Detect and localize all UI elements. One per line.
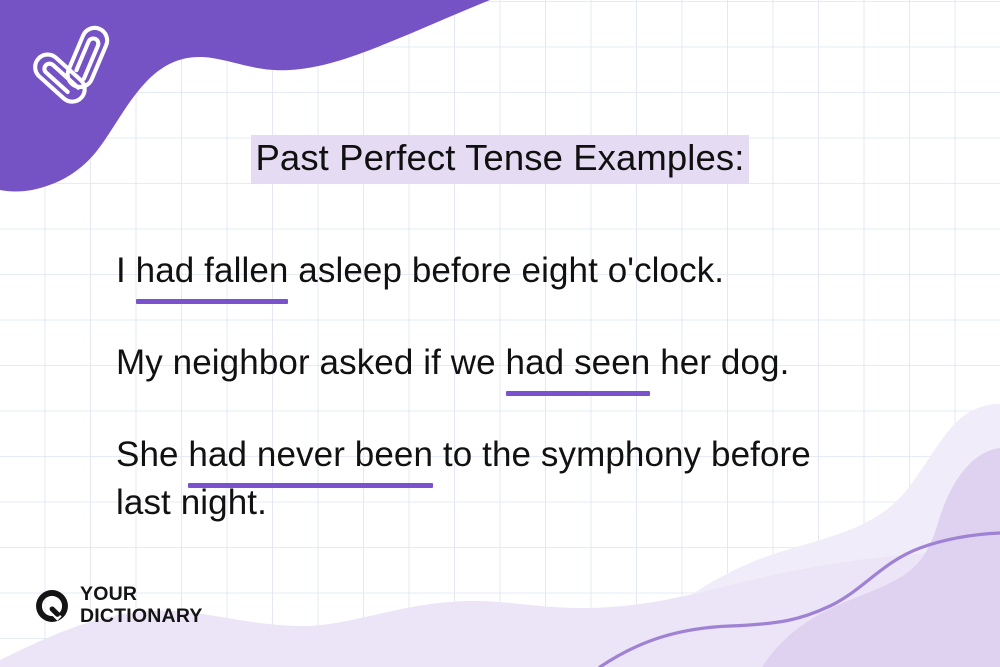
examples-list: I had fallen asleep before eight o'clock… <box>116 247 946 527</box>
yourdictionary-logo[interactable]: YOUR DICTIONARY <box>33 585 203 626</box>
list-item: She had never been to the symphony befor… <box>116 431 816 527</box>
infographic-canvas: Past Perfect Tense Examples: I had falle… <box>0 0 1000 667</box>
example-1-highlight: had fallen <box>136 247 289 295</box>
logo-line-your: YOUR <box>80 585 203 605</box>
list-item: My neighbor asked if we had seen her dog… <box>116 339 946 387</box>
list-item: I had fallen asleep before eight o'clock… <box>116 247 946 295</box>
example-1-after: asleep before eight o'clock. <box>288 251 724 290</box>
logo-wordmark: YOUR DICTIONARY <box>80 585 203 626</box>
yourdictionary-circle-logo-icon <box>33 587 71 625</box>
page-title: Past Perfect Tense Examples: <box>251 135 748 184</box>
title-container: Past Perfect Tense Examples: <box>0 135 1000 184</box>
example-3-highlight: had never been <box>188 431 433 479</box>
example-2-before: My neighbor asked if we <box>116 343 506 382</box>
logo-line-dictionary: DICTIONARY <box>80 607 203 627</box>
example-2-after: her dog. <box>650 343 789 382</box>
example-2-highlight: had seen <box>506 339 651 387</box>
example-3-before: She <box>116 435 188 474</box>
example-1-before: I <box>116 251 136 290</box>
paperclip-group <box>22 20 152 120</box>
